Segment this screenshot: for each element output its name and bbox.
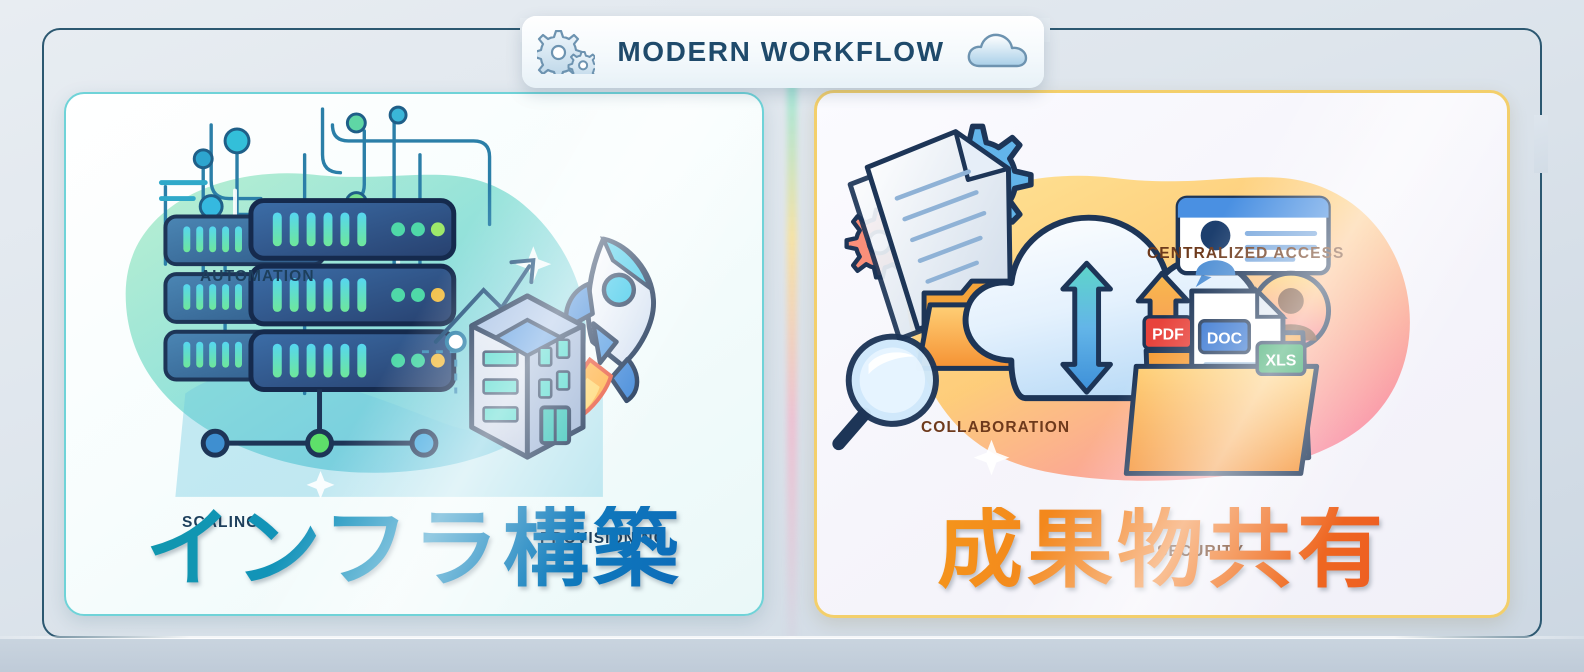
datacenter-building — [472, 296, 583, 457]
svg-text:DOC: DOC — [1207, 331, 1243, 348]
card-infrastructure[interactable]: AUTOMATION SCALING PROVISIONING インフラ構築 — [64, 92, 764, 616]
file-badge-pdf: PDF — [1144, 317, 1192, 349]
gears-icon — [537, 30, 595, 74]
svg-text:PDF: PDF — [1152, 327, 1184, 344]
label-collaboration: COLLABORATION — [921, 419, 1070, 437]
infrastructure-illustration — [66, 94, 762, 498]
header-title: MODERN WORKFLOW — [617, 36, 944, 68]
file-badge-xls: XLS — [1257, 343, 1305, 375]
card-divider — [787, 58, 797, 658]
header-badge[interactable]: MODERN WORKFLOW — [522, 16, 1044, 88]
card-title-infrastructure: インフラ構築 — [66, 506, 762, 592]
bottom-shade — [0, 639, 1584, 672]
svg-text:XLS: XLS — [1266, 352, 1297, 369]
label-centralized-access: CENTRALIZED ACCESS — [1147, 245, 1344, 263]
label-automation: AUTOMATION — [200, 268, 315, 286]
server-rack-front — [251, 201, 454, 390]
file-badge-doc: DOC — [1200, 321, 1250, 353]
card-deliverable-sharing[interactable]: PDF DOC XLS CENTRALIZED ACCESS COLLABORA… — [814, 90, 1510, 618]
card-title-deliverable-sharing: 成果物共有 — [817, 507, 1507, 593]
card-container: AUTOMATION SCALING PROVISIONING インフラ構築 — [42, 28, 1542, 638]
bottom-rule — [0, 636, 1584, 639]
cloud-icon — [967, 32, 1029, 72]
